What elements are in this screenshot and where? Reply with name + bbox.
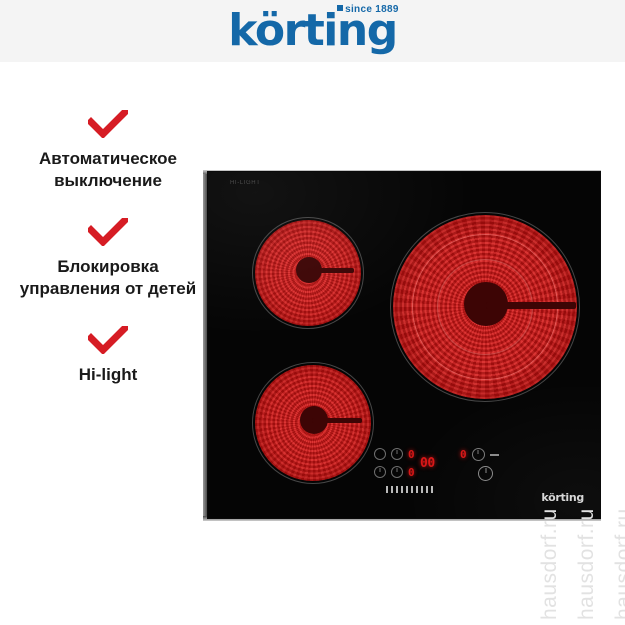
tagline-bullet-icon	[337, 5, 343, 11]
child-lock-icon[interactable]	[472, 448, 485, 461]
feature-item: Hi-light	[10, 326, 206, 386]
zone-key-3[interactable]	[374, 466, 386, 478]
zone-display-3: 0	[460, 449, 467, 460]
power-button-icon[interactable]	[478, 466, 493, 481]
burner-spoke	[308, 268, 354, 273]
watermark: hausdorf.ru	[612, 508, 625, 620]
control-row-bottom: 0	[374, 466, 415, 478]
check-icon	[88, 218, 128, 246]
slider-segment	[431, 486, 433, 493]
control-panel[interactable]: 0 0 00 0	[368, 444, 536, 502]
slider-segment	[391, 486, 393, 493]
right-burner	[390, 212, 580, 402]
slider-segment	[421, 486, 423, 493]
feature-label: Автоматическое выключение	[18, 148, 198, 192]
watermark: hausdorf.ru	[575, 508, 599, 620]
minus-icon[interactable]	[490, 454, 499, 456]
watermark: hausdorf.ru	[538, 508, 562, 620]
slider-segment	[396, 486, 398, 493]
feature-list: Автоматическое выключение Блокировка упр…	[10, 110, 206, 412]
slider-segment	[401, 486, 403, 493]
product-promo-page: körting since 1889 Автоматическое выключ…	[0, 0, 625, 625]
slider-segment	[426, 486, 428, 493]
control-row-top: 0	[374, 448, 415, 460]
feature-item: Автоматическое выключение	[10, 110, 206, 192]
zone-display-2: 0	[408, 467, 415, 478]
zone-key-1[interactable]	[374, 448, 386, 460]
front-left-burner	[252, 217, 364, 329]
zone-display-1: 0	[408, 449, 415, 460]
power-slider[interactable]	[386, 486, 433, 493]
control-row-right: 0	[460, 448, 499, 461]
timer-display: 00	[420, 456, 435, 471]
slider-segment	[411, 486, 413, 493]
cooktop-surface: HI-LIGHT	[208, 172, 600, 518]
check-icon	[88, 326, 128, 354]
burner-spoke	[312, 418, 362, 423]
logo-tagline: since 1889	[337, 4, 399, 15]
burner-spoke	[486, 302, 576, 309]
hob-marking-label: HI-LIGHT	[230, 180, 260, 187]
zone-key-4[interactable]	[391, 466, 403, 478]
feature-label: Блокировка управления от детей	[18, 256, 198, 300]
rear-left-burner	[252, 362, 374, 484]
logo-tagline-text: since 1889	[345, 4, 399, 15]
zone-key-2[interactable]	[391, 448, 403, 460]
slider-segment	[406, 486, 408, 493]
slider-segment	[416, 486, 418, 493]
feature-label: Hi-light	[79, 364, 138, 386]
cooktop-brand-mark: körting	[541, 491, 584, 504]
check-icon	[88, 110, 128, 138]
slider-segment	[386, 486, 388, 493]
feature-item: Блокировка управления от детей	[10, 218, 206, 300]
brand-logo: körting since 1889	[0, 0, 625, 62]
